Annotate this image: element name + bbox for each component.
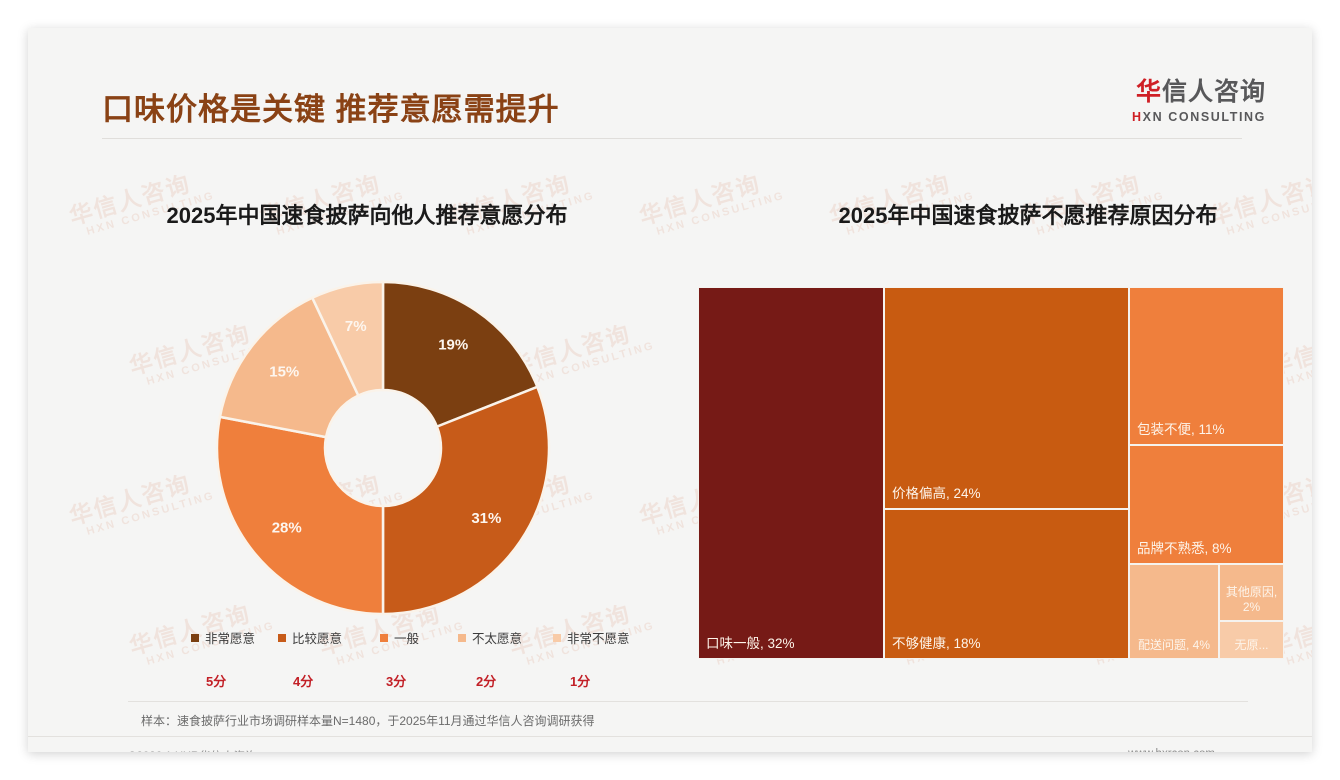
logo-chinese: 华信人咨询 xyxy=(1132,80,1266,105)
treemap-cell[interactable]: 口味一般, 32% xyxy=(698,287,884,659)
legend-swatch-icon xyxy=(380,634,388,642)
score-label: 4分 xyxy=(293,671,313,690)
donut-slice-label: 19% xyxy=(438,337,468,354)
treemap-cell-label: 价格偏高, 24% xyxy=(892,486,1124,503)
sample-note: 样本：速食披萨行业市场调研样本量N=1480，于2025年11月通过华信人咨询调… xyxy=(141,712,595,729)
right-chart-title: 2025年中国速食披萨不愿推荐原因分布 xyxy=(763,198,1293,230)
legend-item[interactable]: 一般 xyxy=(380,628,419,647)
slide-canvas: 华信人咨询HXN CONSULTING华信人咨询HXN CONSULTING华信… xyxy=(28,28,1312,752)
legend-item[interactable]: 比较愿意 xyxy=(278,628,342,647)
treemap-cell-label: 无原... xyxy=(1223,638,1280,653)
footer-copyright: ©2026.1 HXR华信人咨询 xyxy=(128,748,257,752)
treemap-cell[interactable]: 配送问题, 4% xyxy=(1129,564,1219,659)
treemap-cell[interactable]: 其他原因, 2% xyxy=(1219,564,1284,621)
legend-swatch-icon xyxy=(458,634,466,642)
logo-english-accent: H xyxy=(1132,110,1143,124)
donut-legend: 非常愿意比较愿意一般不太愿意非常不愿意 xyxy=(158,628,678,648)
header-divider xyxy=(102,138,1242,139)
treemap-cell[interactable]: 价格偏高, 24% xyxy=(884,287,1129,509)
score-label: 1分 xyxy=(570,671,590,690)
donut-score-labels: 5分4分3分2分1分 xyxy=(158,671,678,691)
logo-english-rest: XN CONSULTING xyxy=(1143,110,1266,124)
treemap-cell-label: 不够健康, 18% xyxy=(892,636,1124,653)
donut-slice-label: 31% xyxy=(471,510,501,527)
legend-item[interactable]: 非常愿意 xyxy=(191,628,255,647)
logo-chinese-rest: 信人咨询 xyxy=(1162,78,1266,106)
treemap-cell-label: 其他原因, 2% xyxy=(1223,585,1280,615)
donut-slice-label: 15% xyxy=(269,363,299,380)
footer-divider xyxy=(28,736,1312,737)
treemap-cell-label: 品牌不熟悉, 8% xyxy=(1137,541,1279,558)
slide-header: 口味价格是关键 推荐意愿需提升 华信人咨询 HXN CONSULTING xyxy=(28,28,1312,132)
donut-chart: 19%31%28%15%7% xyxy=(208,274,558,622)
logo-english: HXN CONSULTING xyxy=(1132,110,1266,124)
donut-slice[interactable] xyxy=(383,387,549,614)
treemap-cell-label: 口味一般, 32% xyxy=(706,636,879,653)
note-divider xyxy=(128,701,1248,702)
legend-item-label: 一般 xyxy=(394,628,419,647)
legend-swatch-icon xyxy=(553,634,561,642)
legend-item-label: 比较愿意 xyxy=(292,628,342,647)
donut-slice-label: 28% xyxy=(272,520,302,537)
score-label: 5分 xyxy=(206,671,226,690)
legend-item-label: 非常不愿意 xyxy=(567,628,630,647)
legend-item-label: 非常愿意 xyxy=(205,628,255,647)
treemap-cell[interactable]: 不够健康, 18% xyxy=(884,509,1129,659)
treemap-cell[interactable]: 品牌不熟悉, 8% xyxy=(1129,445,1284,564)
legend-swatch-icon xyxy=(278,634,286,642)
treemap-cell-label: 包装不便, 11% xyxy=(1137,422,1279,439)
donut-svg: 19%31%28%15%7% xyxy=(208,274,558,622)
footer-website[interactable]: www.hxrcon.com xyxy=(1128,748,1215,752)
legend-item[interactable]: 非常不愿意 xyxy=(553,628,630,647)
donut-slice-label: 7% xyxy=(345,318,367,335)
treemap-cell[interactable]: 无原... xyxy=(1219,621,1284,659)
left-chart-title: 2025年中国速食披萨向他人推荐意愿分布 xyxy=(107,198,627,230)
logo-chinese-accent: 华 xyxy=(1136,78,1162,106)
brand-logo: 华信人咨询 HXN CONSULTING xyxy=(1132,80,1266,124)
watermark-mark: 华信人咨询HXN CONSULTING xyxy=(65,459,217,541)
treemap-chart: 口味一般, 32%价格偏高, 24%不够健康, 18%包装不便, 11%品牌不熟… xyxy=(698,287,1284,659)
legend-item[interactable]: 不太愿意 xyxy=(458,628,522,647)
treemap-cell-label: 配送问题, 4% xyxy=(1133,638,1215,653)
score-label: 3分 xyxy=(386,671,406,690)
treemap-cell[interactable]: 包装不便, 11% xyxy=(1129,287,1284,445)
donut-slice[interactable] xyxy=(217,417,383,614)
score-label: 2分 xyxy=(476,671,496,690)
page-title: 口味价格是关键 推荐意愿需提升 xyxy=(102,84,560,129)
legend-item-label: 不太愿意 xyxy=(472,628,522,647)
legend-swatch-icon xyxy=(191,634,199,642)
